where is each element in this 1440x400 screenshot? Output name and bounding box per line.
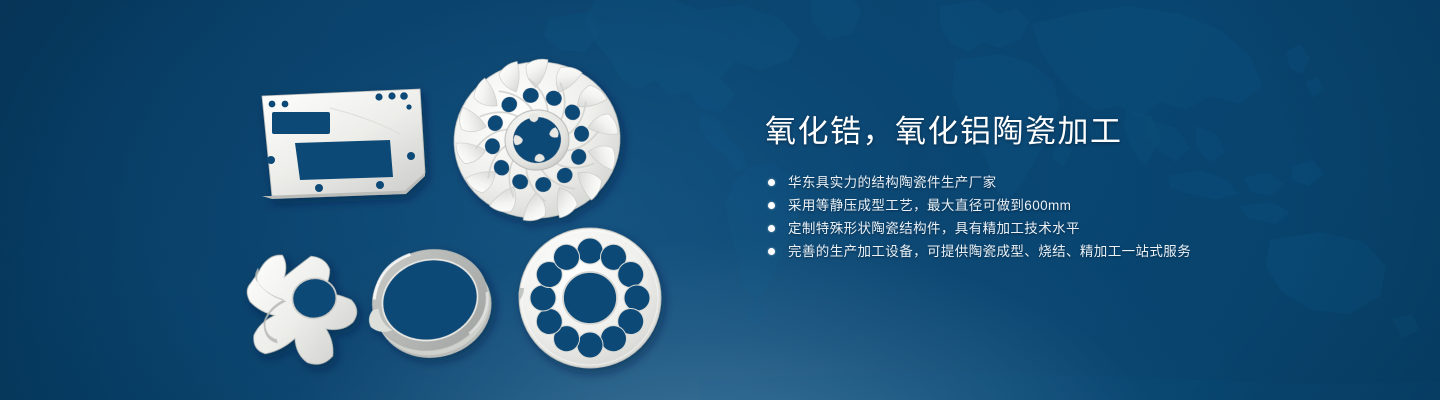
bullet-dot-icon bbox=[768, 225, 775, 232]
list-item-label: 定制特殊形状陶瓷结构件，具有精加工技术水平 bbox=[788, 218, 1080, 239]
ceramic-cross-part-graphic bbox=[240, 243, 365, 374]
feature-list: 华东具实力的结构陶瓷件生产厂家 采用等静压成型工艺，最大直径可做到600mm 定… bbox=[765, 172, 1385, 262]
list-item: 完善的生产加工设备，可提供陶瓷成型、烧结、精加工一站式服务 bbox=[765, 241, 1385, 262]
ceramic-impeller-graphic bbox=[443, 47, 630, 232]
bullet-dot-icon bbox=[768, 248, 775, 255]
ceramic-ring-graphic bbox=[355, 237, 502, 372]
product-showcase bbox=[0, 0, 720, 400]
list-item-label: 采用等静压成型工艺，最大直径可做到600mm bbox=[788, 195, 1071, 216]
list-item-label: 完善的生产加工设备，可提供陶瓷成型、烧结、精加工一站式服务 bbox=[788, 241, 1191, 262]
list-item: 采用等静压成型工艺，最大直径可做到600mm bbox=[765, 195, 1385, 216]
list-item: 定制特殊形状陶瓷结构件，具有精加工技术水平 bbox=[765, 218, 1385, 239]
page-title: 氧化锆，氧化铝陶瓷加工 bbox=[765, 112, 1385, 152]
bullet-dot-icon bbox=[768, 202, 775, 209]
ceramic-flat-plate-graphic bbox=[262, 89, 425, 199]
bullet-dot-icon bbox=[768, 179, 775, 186]
list-item: 华东具实力的结构陶瓷件生产厂家 bbox=[765, 172, 1385, 193]
ceramic-holed-disc-graphic bbox=[519, 228, 662, 368]
banner-text-block: 氧化锆，氧化铝陶瓷加工 华东具实力的结构陶瓷件生产厂家 采用等静压成型工艺，最大… bbox=[765, 112, 1385, 264]
hero-banner: 氧化锆，氧化铝陶瓷加工 华东具实力的结构陶瓷件生产厂家 采用等静压成型工艺，最大… bbox=[0, 0, 1440, 400]
list-item-label: 华东具实力的结构陶瓷件生产厂家 bbox=[788, 172, 997, 193]
